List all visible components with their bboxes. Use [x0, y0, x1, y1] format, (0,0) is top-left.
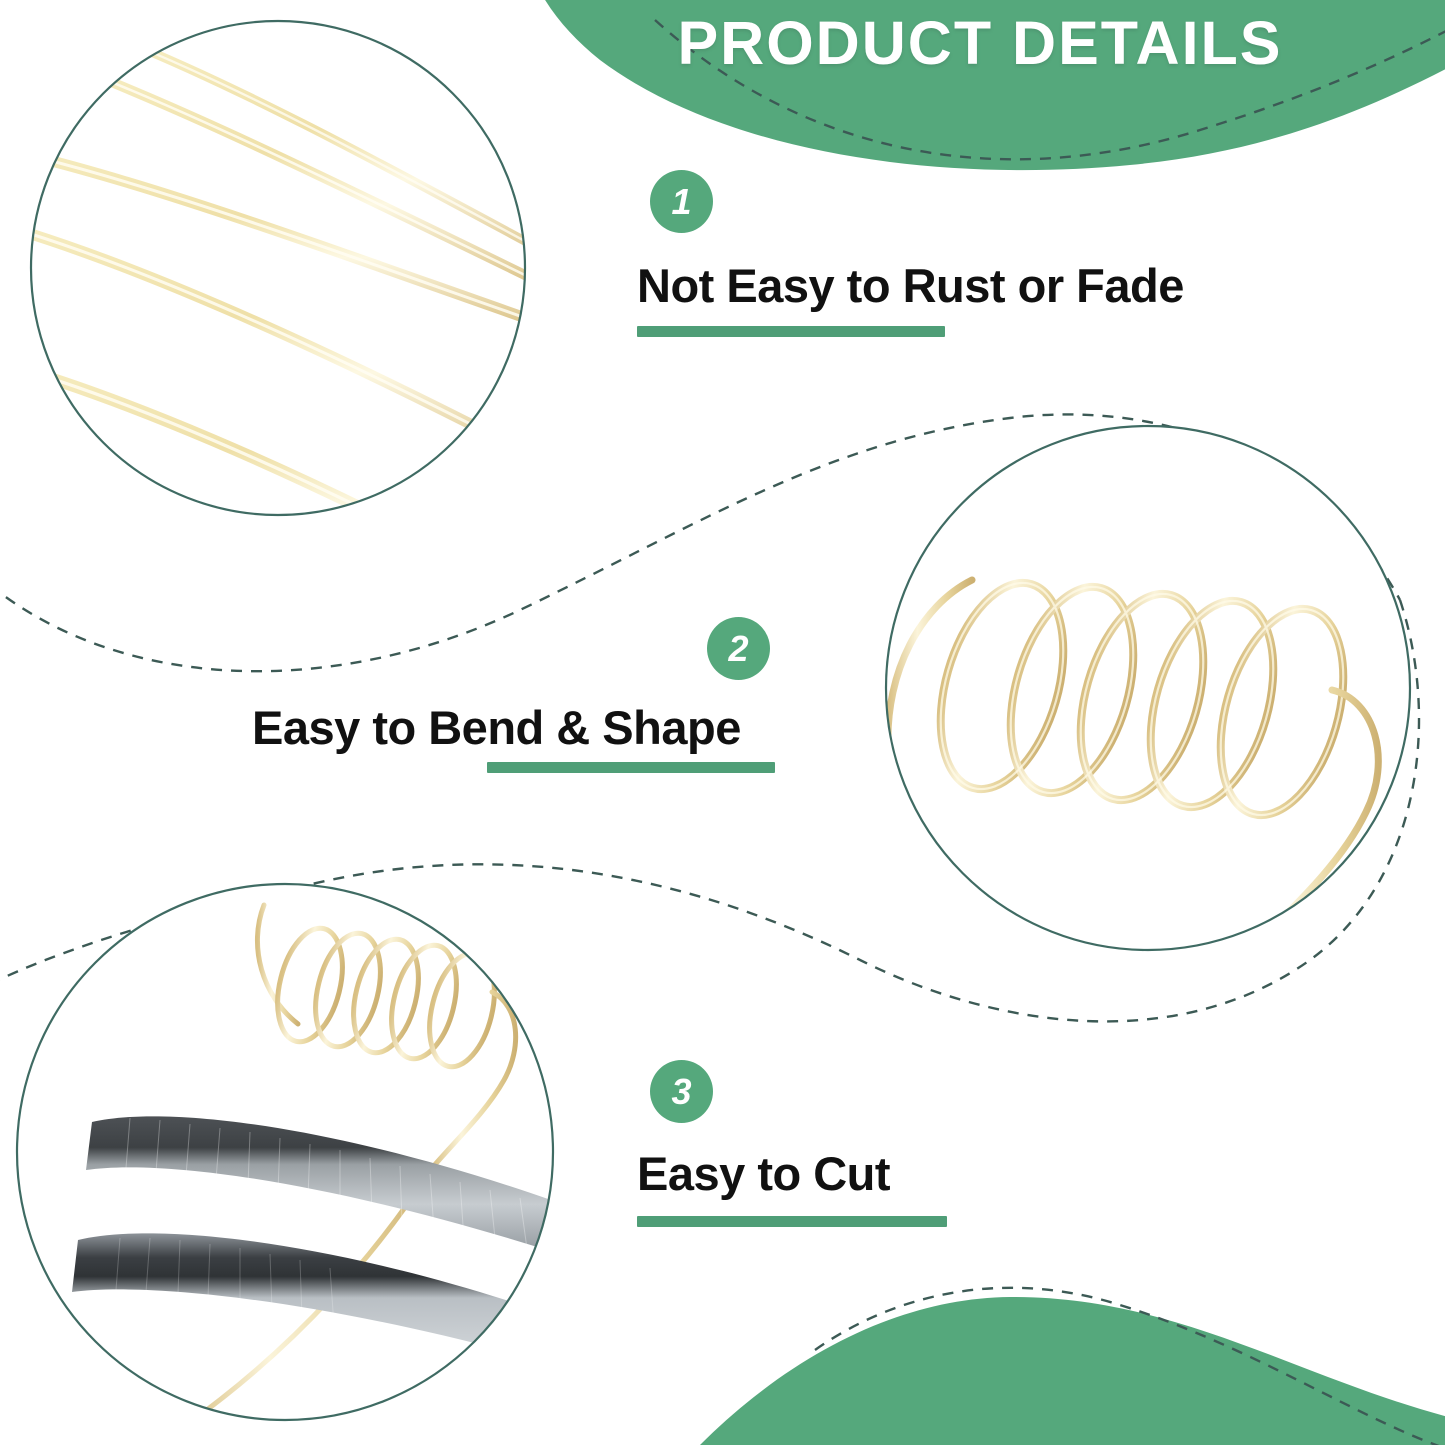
footer-green-wave	[700, 1297, 1445, 1445]
product-photo-wire-strands	[0, 10, 575, 600]
feature-title-2: Easy to Bend & Shape	[252, 700, 741, 755]
feature-number-badge-1: 1	[650, 170, 713, 233]
feature-underline-2	[487, 762, 775, 773]
product-photo-pliers-cutting	[10, 880, 572, 1440]
feature-number-badge-2: 2	[707, 617, 770, 680]
feature-underline-3	[637, 1216, 947, 1227]
feature-number-badge-3: 3	[650, 1060, 713, 1123]
feature-underline-1	[637, 326, 945, 337]
feature-title-1: Not Easy to Rust or Fade	[637, 258, 1184, 313]
product-photo-wire-coil	[880, 420, 1420, 960]
product-details-infographic: PRODUCT DETAILS 1 Not Easy to Rust or Fa…	[0, 0, 1445, 1445]
feature-title-3: Easy to Cut	[637, 1146, 890, 1201]
page-title: PRODUCT DETAILS	[600, 8, 1360, 78]
